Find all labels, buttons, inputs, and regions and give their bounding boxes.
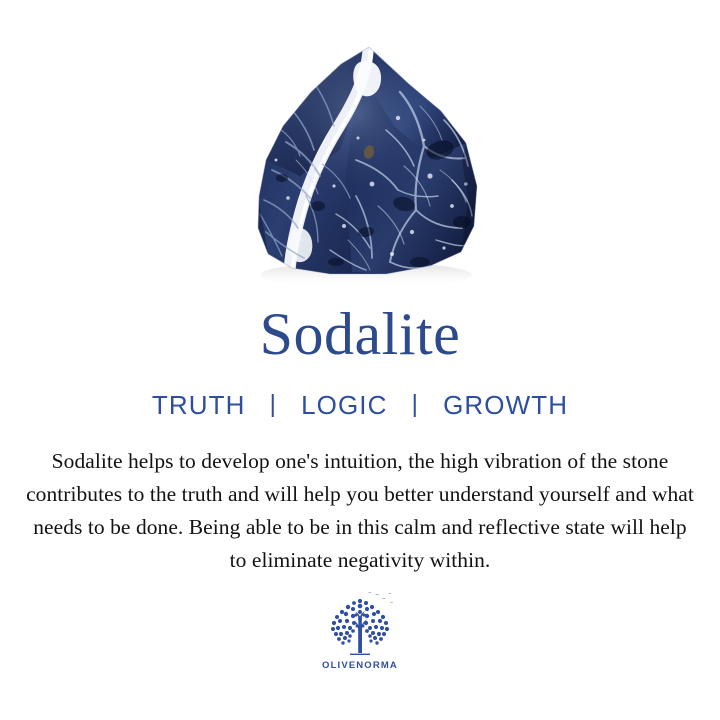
- brand-logo: OLIVENORMA: [320, 591, 400, 671]
- brand-name: OLIVENORMA: [322, 660, 398, 671]
- keyword-separator: |: [389, 392, 441, 417]
- tree-icon: [320, 591, 400, 659]
- keyword-list: TRUTH | LOGIC | GROWTH: [150, 390, 570, 421]
- keyword-logic: LOGIC: [299, 390, 389, 421]
- crystal-image: [0, 0, 720, 290]
- keyword-separator: |: [247, 392, 299, 417]
- sodalite-crystal-point-icon: [0, 0, 720, 290]
- product-description: Sodalite helps to develop one's intuitio…: [26, 445, 694, 577]
- product-card: Sodalite TRUTH | LOGIC | GROWTH Sodalite…: [0, 0, 720, 720]
- crystal-body: [250, 40, 490, 284]
- keyword-growth: GROWTH: [441, 390, 570, 421]
- page-title: Sodalite: [260, 290, 461, 364]
- keyword-truth: TRUTH: [150, 390, 248, 421]
